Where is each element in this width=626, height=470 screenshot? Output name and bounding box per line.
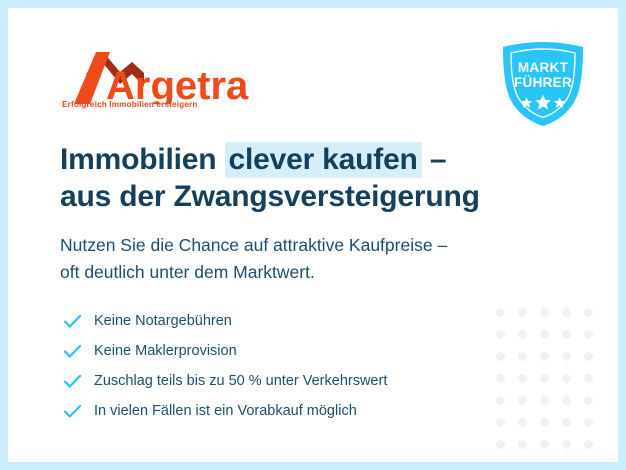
dot [518,308,527,317]
dot [496,330,505,339]
subheadline-line-1: Nutzen Sie die Chance auf attraktive Kau… [60,232,560,259]
subheadline-line-2: oft deutlich unter dem Marktwert. [60,259,560,286]
argetra-a-roof-icon: Argetra [60,48,250,104]
shield-icon [497,40,589,128]
dot [540,440,549,449]
logo-tagline: Erfolgreich Immobilien ersteigern [62,100,198,109]
dot [562,440,571,449]
dot [496,374,505,383]
dot [518,396,527,405]
dot [496,396,505,405]
dot [584,308,593,317]
dot-pattern-decoration [496,308,606,462]
check-icon [63,374,89,389]
dot [540,396,549,405]
headline-highlight: clever kaufen [225,142,422,178]
dot [540,374,549,383]
dot [518,440,527,449]
dot [562,352,571,361]
dot [518,352,527,361]
list-item-label: Keine Maklerprovision [89,344,237,359]
dot [496,308,505,317]
dot [540,418,549,427]
brand-logo[interactable]: Argetra Erfolgreich Immobilien ersteiger… [60,48,250,116]
list-item-label: Keine Notargebühren [89,314,232,329]
dot [518,330,527,339]
check-icon [63,314,89,329]
check-icon [63,344,89,359]
dot [584,352,593,361]
dot [562,330,571,339]
dot [496,440,505,449]
benefit-list: Keine Notargebühren Keine Maklerprovisio… [63,306,387,426]
headline: Immobilien clever kaufen – aus der Zwang… [60,141,540,215]
dot [584,440,593,449]
list-item-label: In vielen Fällen ist ein Vorabkauf mögli… [89,404,357,419]
dot [540,330,549,339]
dot [584,418,593,427]
dot [562,374,571,383]
dot [584,330,593,339]
dot [518,374,527,383]
list-item: Keine Notargebühren [63,306,387,336]
dot [584,374,593,383]
headline-part-2: – [422,143,447,176]
dot [584,396,593,405]
list-item: Keine Maklerprovision [63,336,387,366]
dot [496,352,505,361]
svg-text:Argetra: Argetra [106,64,249,104]
dot [562,308,571,317]
subheadline: Nutzen Sie die Chance auf attraktive Kau… [60,232,560,285]
market-leader-badge: MARKT FÜHRER [497,40,589,128]
list-item: In vielen Fällen ist ein Vorabkauf mögli… [63,396,387,426]
dot [562,396,571,405]
dot [562,418,571,427]
list-item: Zuschlag teils bis zu 50 % unter Verkehr… [63,366,387,396]
list-item-label: Zuschlag teils bis zu 50 % unter Verkehr… [89,374,387,389]
check-icon [63,404,89,419]
ad-card: Argetra Erfolgreich Immobilien ersteiger… [8,8,618,462]
headline-line-2: aus der Zwangsversteigerung [60,178,540,215]
dot [540,352,549,361]
dot [518,418,527,427]
dot [540,308,549,317]
headline-part-1: Immobilien [60,143,225,176]
dot [496,418,505,427]
